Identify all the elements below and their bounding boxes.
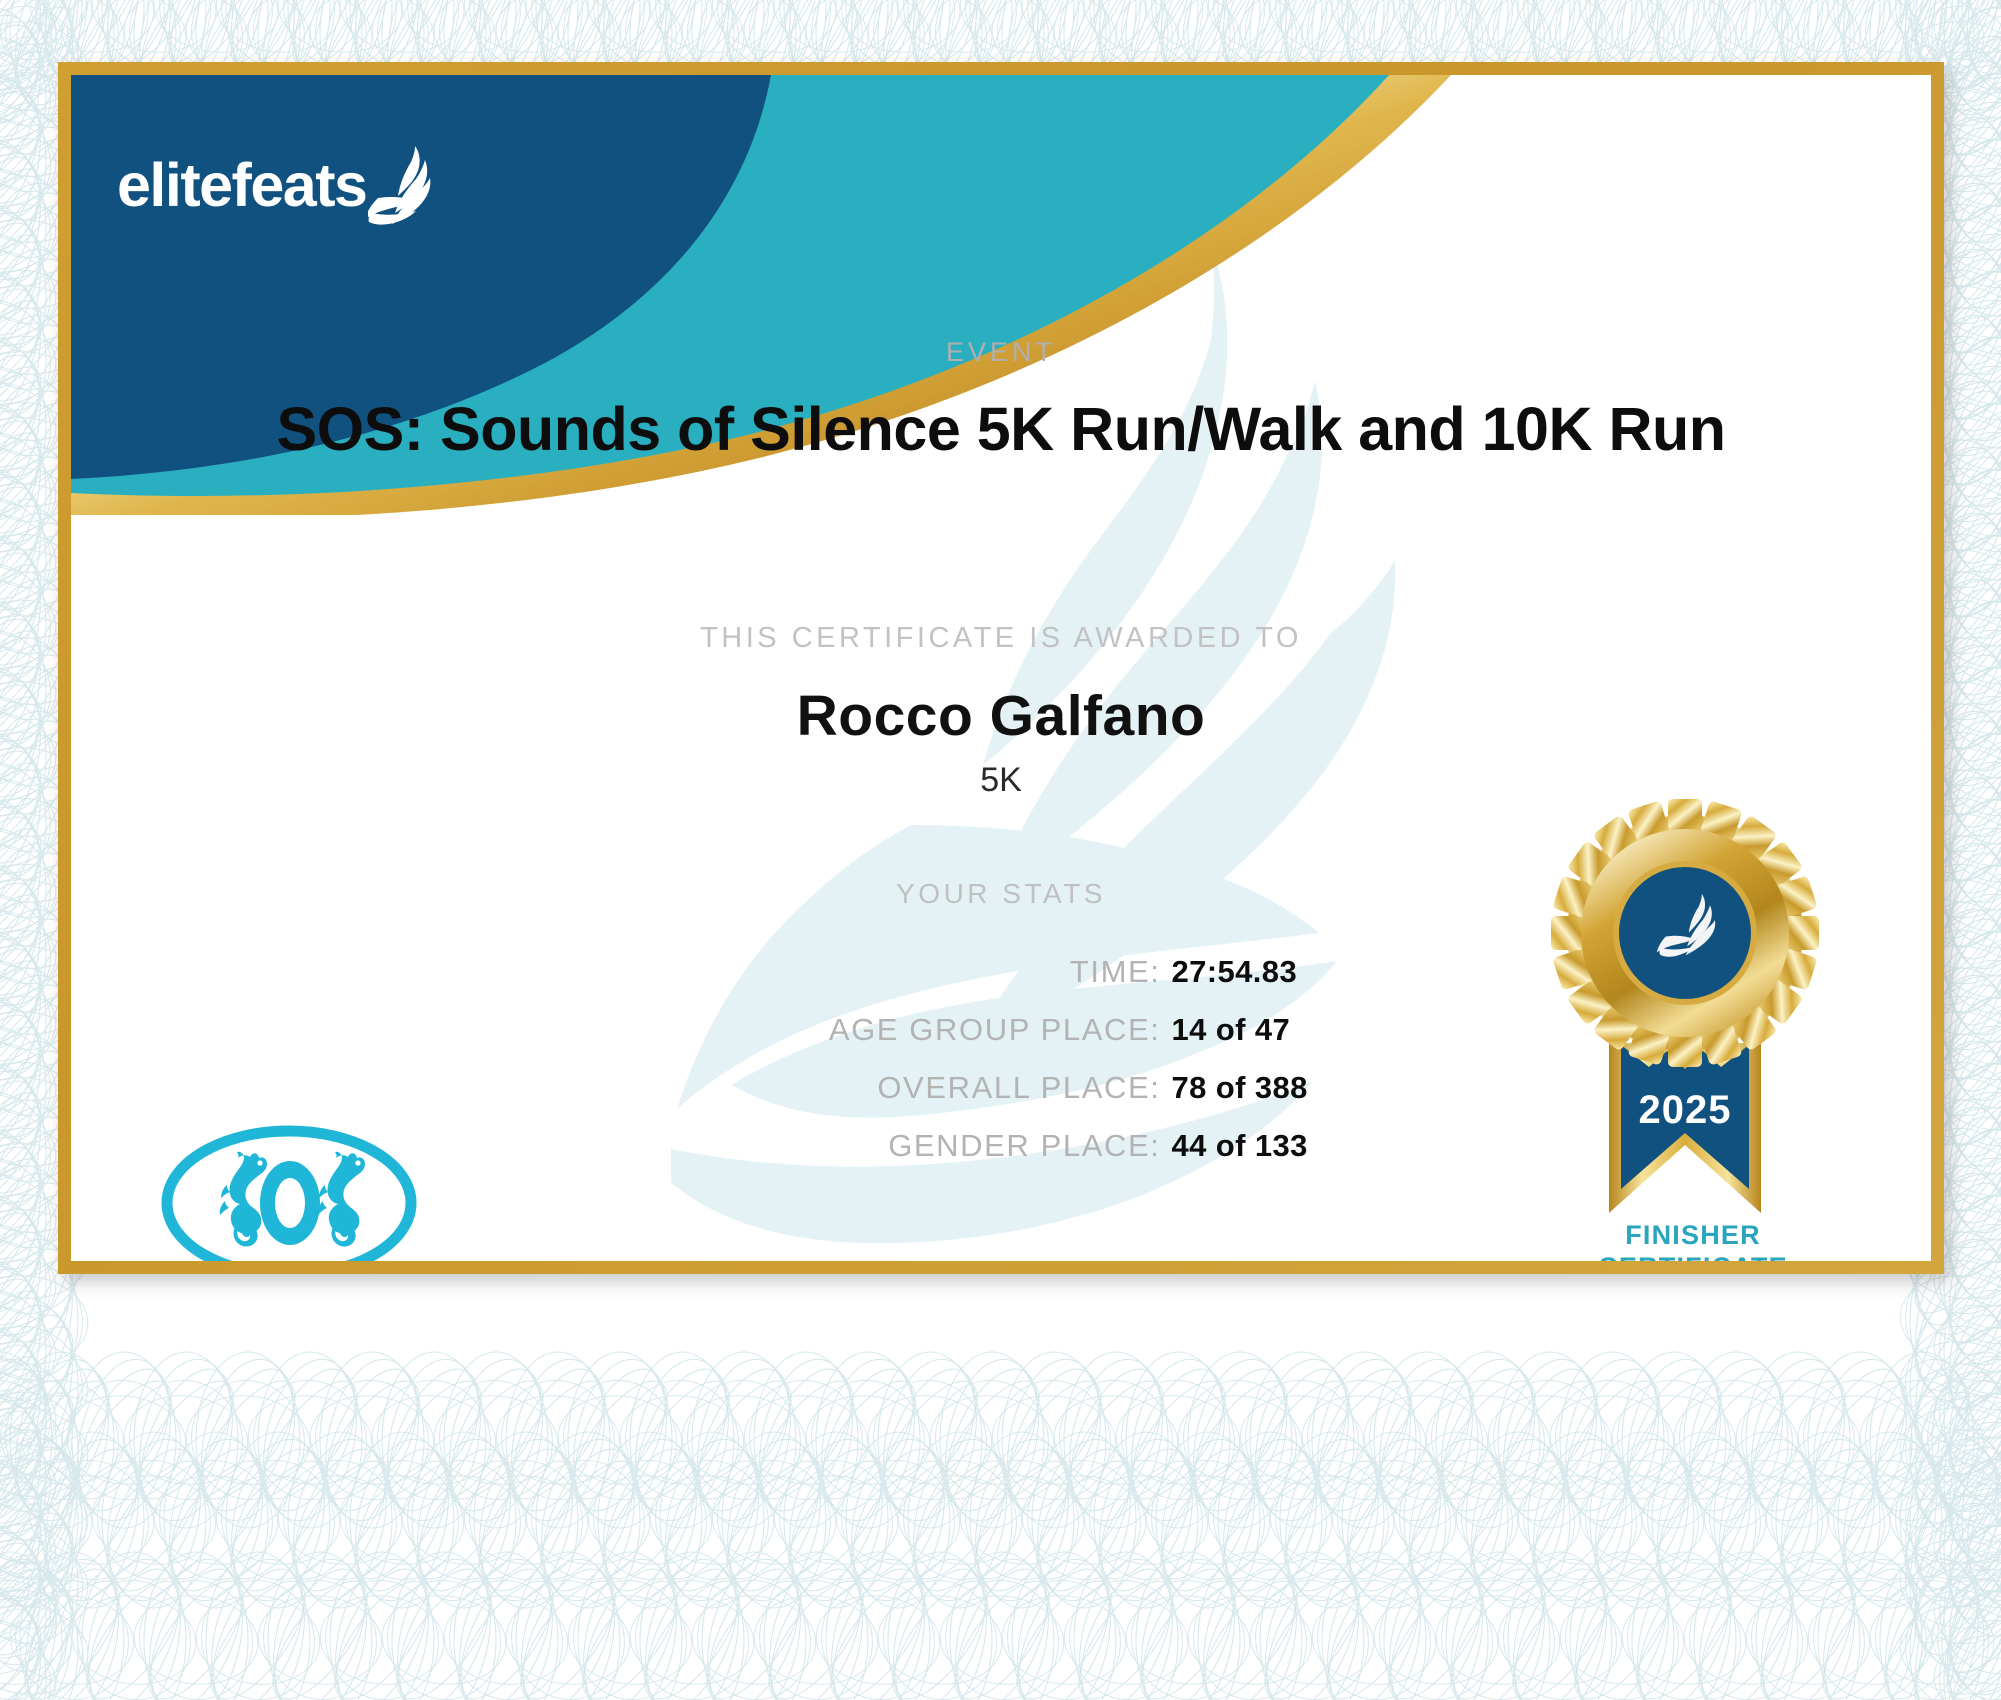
event-title: SOS: Sounds of Silence 5K Run/Walk and 1… [71,394,1931,464]
stat-label-age-group-place: AGE GROUP PLACE: [641,1012,1161,1048]
event-kicker-label: EVENT [71,337,1931,368]
stat-label-overall-place: OVERALL PLACE: [641,1070,1161,1106]
stat-value-gender-place: 44 of 133 [1172,1128,1362,1164]
badge-caption: FINISHER CERTIFICATE [1543,1220,1843,1261]
certificate-page: elitefeats EVENT SOS: [0,0,2001,1700]
stat-label-time: TIME: [641,954,1161,990]
certificate-body: elitefeats EVENT SOS: [71,75,1931,1261]
badge-caption-line1: FINISHER [1543,1220,1843,1252]
badge-year: 2025 [1639,1088,1732,1132]
badge-caption-line2: CERTIFICATE [1543,1252,1843,1261]
stat-value-overall-place: 78 of 388 [1172,1070,1362,1106]
stat-value-time: 27:54.83 [1172,954,1362,990]
gold-medal-winged-foot-icon: 2025 [1551,793,1819,1261]
sos-seahorse-oval-logo-icon [159,1123,419,1261]
stat-label-gender-place: GENDER PLACE: [641,1128,1161,1164]
recipient-name: Rocco Galfano [71,683,1931,749]
certificate-gold-frame: elitefeats EVENT SOS: [58,62,1944,1274]
stat-value-age-group-place: 14 of 47 [1172,1012,1362,1048]
awarded-to-label: THIS CERTIFICATE IS AWARDED TO [71,622,1931,655]
